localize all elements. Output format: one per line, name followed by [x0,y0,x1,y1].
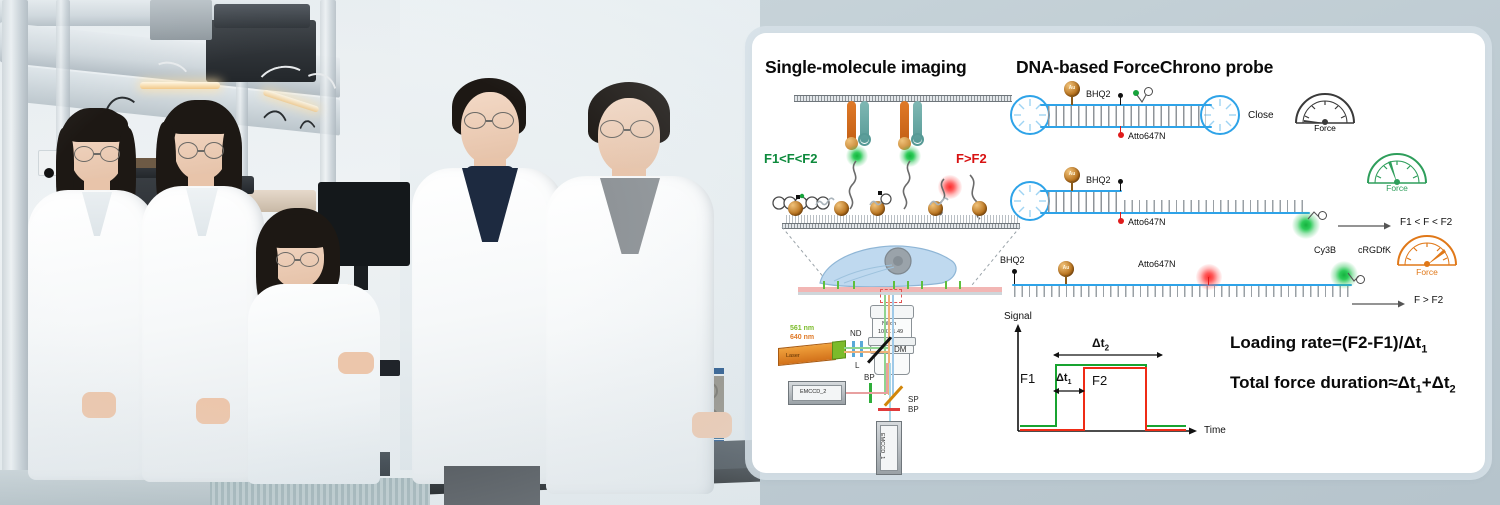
person2-glasses-bridge [198,150,204,152]
person3-glasses-bridge [295,259,300,261]
person3-glasses-right [300,252,319,267]
lens-label: L [855,361,859,370]
f2-label: F2 [1092,373,1107,388]
delta-t2-label: Δt2 [1092,336,1109,352]
arrow-partial [1338,221,1394,231]
laser-line-1: 561 nm [790,325,814,332]
bhq2-label-closed: BHQ2 [1086,89,1111,99]
condition-open: F > F2 [1414,295,1443,306]
laser-label: Laser [786,353,800,359]
bhq2-label-open: BHQ2 [1000,255,1025,265]
bp2-label: BP [908,405,919,414]
atto-stem-partial [1120,212,1121,220]
delta-t1-arrow [1052,385,1090,397]
rig-post-left [2,0,28,505]
strand-bottom-partial [1040,212,1310,214]
force-low-label: F1<F<F2 [764,151,817,166]
force-gauge-partial: Force [1364,149,1430,193]
right-panel-title: DNA-based ForceChrono probe [1016,57,1273,78]
instrument-box-top2 [214,4,310,28]
force-gauge-label-open: Force [1394,267,1460,277]
objective-label-2: 100X 1.49 [878,329,903,335]
force-gauge-closed: Force [1292,89,1358,133]
person3-glasses-left [276,252,295,267]
equation-loading-rate: Loading rate=(F2-F1)/Δt1 [1230,333,1427,355]
x-axis-label: Time [1204,425,1226,436]
bhq2-stem-partial [1120,181,1121,191]
ligand-link-partial [1304,209,1328,225]
gold-linker-partial [1071,181,1073,191]
hairpin-structures [812,185,962,207]
atto647n-label-partial: Atto647N [1128,217,1166,227]
ss-teeth-partial [1124,200,1304,212]
base-pairs-closed [1048,106,1206,126]
figure-composite: Single-molecule imaging DNA-based ForceC… [0,0,1500,505]
atto647n-label-open: Atto647N [1138,259,1176,269]
person2-glasses-left [178,142,198,159]
person1-lab-coat [28,190,156,480]
beam-down-red [886,363,888,393]
bhq2-stem-open [1014,271,1015,285]
emccd2-label: EMCCD_2 [800,389,826,395]
condition-partial: F1 < F < F2 [1400,217,1452,228]
bhq2-label-partial: BHQ2 [1086,175,1111,185]
emccd1-label: EMCCD_1 [879,433,885,459]
cy3b-label: Cy3B [1314,245,1336,255]
integrin-head-teal-2 [911,133,924,146]
person2-hair-front [170,104,232,134]
atto647n-label-closed: Atto647N [1128,131,1166,141]
person4-glasses-left [464,112,486,129]
gold-nanoparticle-1 [788,201,803,216]
lab-team-photograph [0,0,760,505]
ligand-ticks [798,279,1002,289]
nd-filter-1 [852,341,855,357]
person5-glasses-bridge [624,129,630,131]
person1-glasses-bridge [94,153,100,155]
integrin-head-teal-1 [858,133,871,146]
person4-glasses-right [492,112,514,129]
force-gauge-label-partial: Force [1364,183,1430,193]
base-pairs-partial [1048,192,1118,212]
figure-panel: Single-molecule imaging DNA-based ForceC… [752,33,1485,473]
plug [44,168,54,178]
close-state-label: Close [1248,110,1274,121]
person1-hands [82,392,116,418]
loop-left-closed-ticks [1010,95,1050,135]
ligand-link-closed [1132,89,1156,107]
person1-glasses-left [74,146,94,162]
left-panel-title: Single-molecule imaging [765,57,967,78]
person2-hands [196,398,230,424]
person1-hair-front [66,110,128,142]
nd-filter-2 [860,341,863,357]
bhq2-stem-closed [1120,95,1121,105]
nd-label: ND [850,329,862,338]
person4-trousers [444,466,540,505]
person5-glasses-left [600,120,624,138]
gold-nanoparticle-5 [972,201,987,216]
beam-to-dm-orange [844,351,888,353]
person3-lab-coat [248,284,380,484]
atto-stem-closed [1120,126,1121,134]
force-gauge-label-closed: Force [1292,123,1358,133]
loop-right-closed-ticks [1200,95,1240,135]
gold-linker-closed [1071,95,1073,105]
f1-label: F1 [1020,371,1035,386]
sp-label: SP [908,395,919,404]
gold-bead-label-2: Au [1064,172,1080,177]
person3-hand-on-keyboard [338,352,374,374]
dm-label: DM [894,345,906,354]
laser-line-2: 640 nm [790,334,814,341]
person5-hand-on-bench [692,412,732,438]
laser-aperture [832,340,846,359]
person2-glasses-right [204,142,224,159]
ss-teeth-open [1014,286,1350,297]
equation-force-duration: Total force duration≈Δt1+Δt2 [1230,373,1456,395]
y-axis-label: Signal [1004,311,1032,322]
delta-t2-arrow [1052,349,1172,361]
person1-glasses-right [100,146,120,162]
strand-bottom-closed [1040,126,1212,128]
bandpass-filter-2 [878,408,900,411]
delta-t1-label: Δt1 [1056,372,1071,386]
crgdfk-label: cRGDfK [1358,245,1391,255]
loop-left-partial-ticks [1010,181,1050,221]
arrow-open [1352,299,1408,309]
atto-stem-open [1208,277,1209,285]
gold-bead-label: Au [1064,86,1080,91]
force-gauge-open: Force [1394,231,1460,277]
beam-down-cyan [889,363,891,421]
person5-glasses-right [630,120,654,138]
bp1-label: BP [864,373,875,382]
force-high-label: F>F2 [956,151,987,166]
person4-glasses-bridge [486,120,492,122]
ligand-link-open [1344,269,1366,285]
instrument-panel-top [150,0,212,40]
gold-bead-label-3: Au [1058,266,1074,271]
